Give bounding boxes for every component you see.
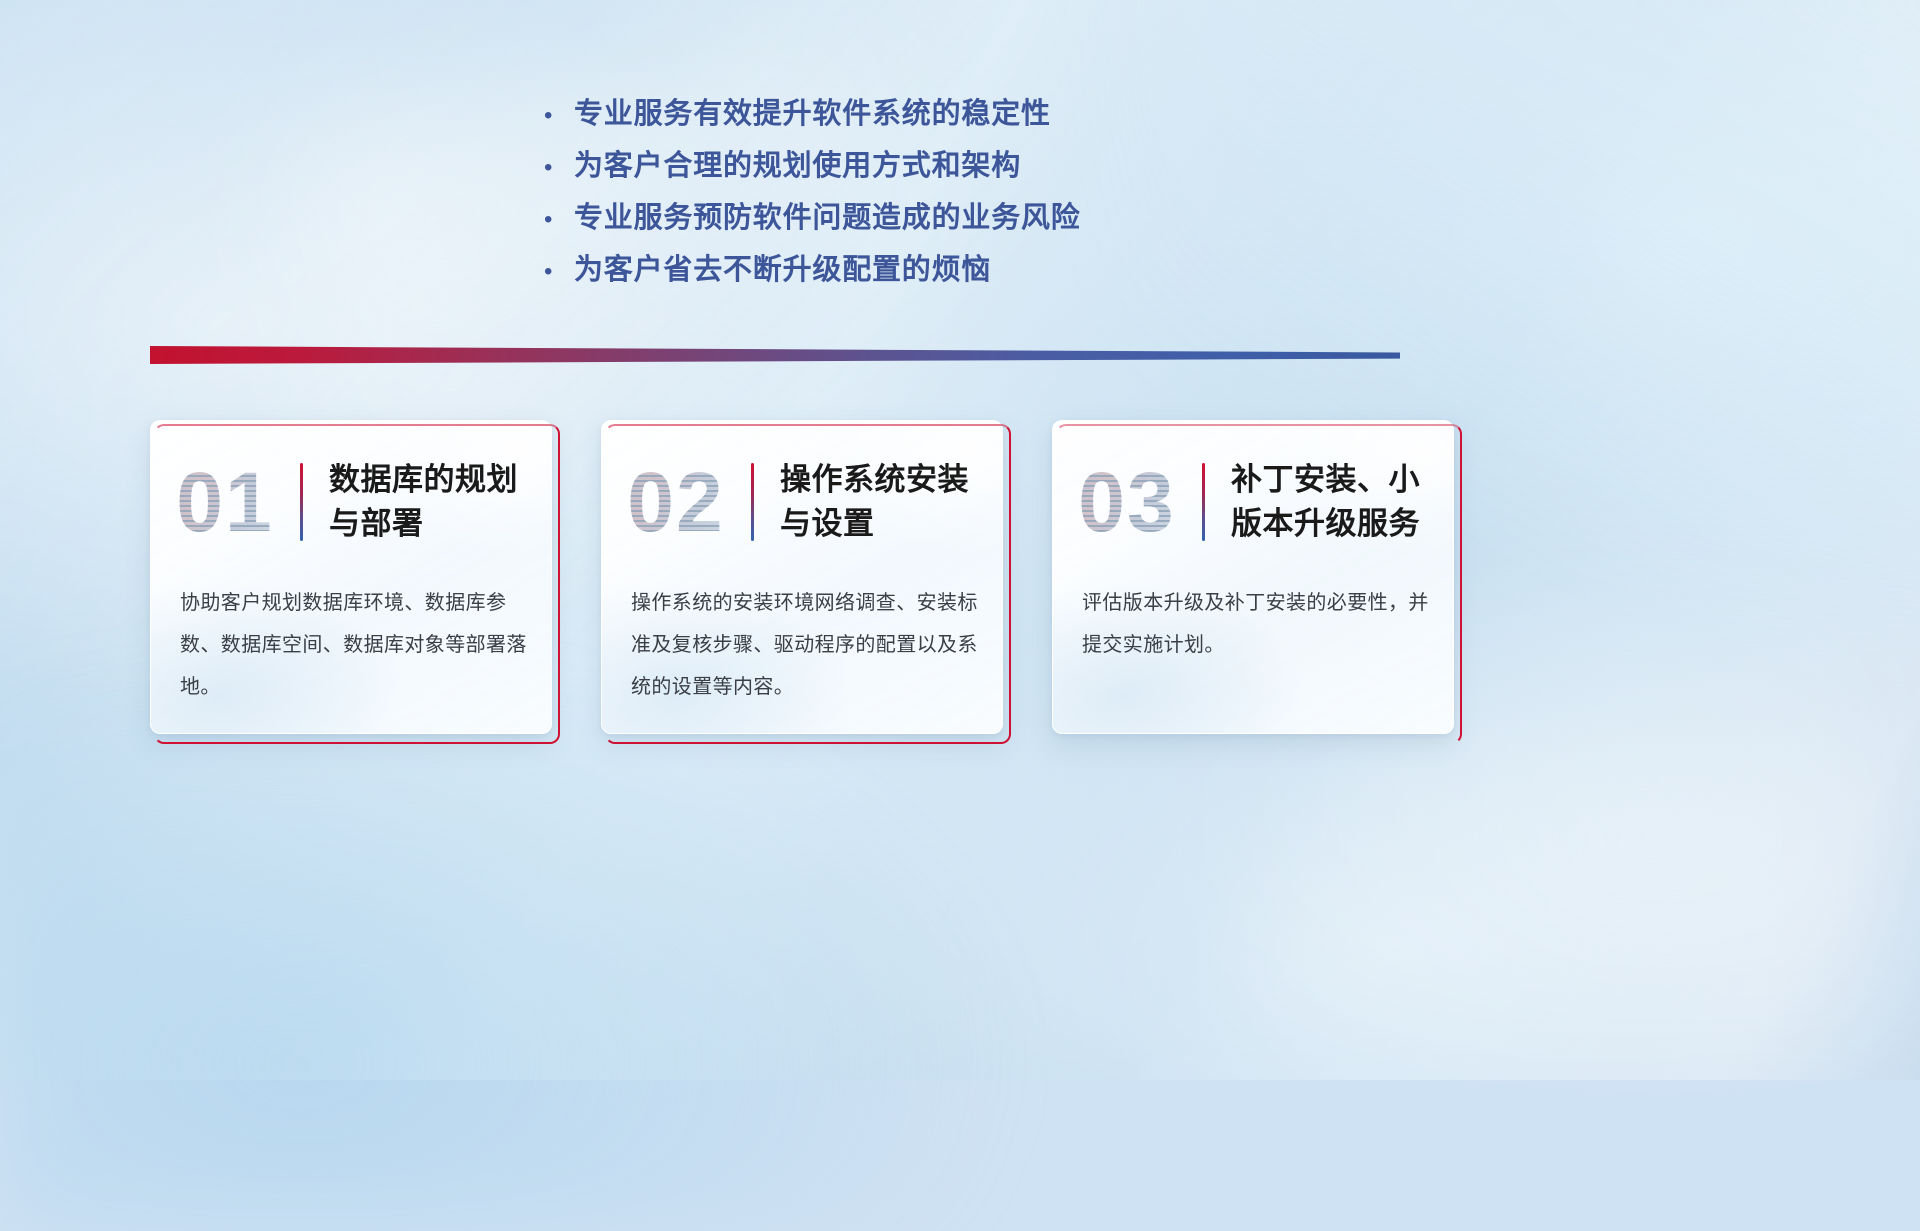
card-number: 01 (150, 442, 300, 562)
bullet-item: • 为客户省去不断升级配置的烦恼 (540, 244, 1320, 296)
bullet-dot-icon: • (540, 246, 574, 298)
bullet-dot-icon: • (540, 142, 574, 194)
bullet-text: 为客户省去不断升级配置的烦恼 (574, 244, 991, 296)
card-title: 补丁安装、小版本升级服务 (1231, 458, 1452, 546)
card-number: 02 (601, 442, 751, 562)
card-body-text: 协助客户规划数据库环境、数据库参数、数据库空间、数据库对象等部署落地。 (180, 582, 528, 708)
card-header: 02 操作系统安装与设置 (601, 442, 1001, 562)
section-divider (150, 346, 1400, 364)
card-body-text: 评估版本升级及补丁安装的必要性，并提交实施计划。 (1082, 582, 1430, 666)
divider-bar (150, 346, 1400, 364)
bullet-text: 专业服务预防软件问题造成的业务风险 (574, 192, 1081, 244)
card-divider-line (1202, 463, 1205, 541)
bullet-item: • 专业服务有效提升软件系统的稳定性 (540, 88, 1320, 140)
bullet-item: • 专业服务预防软件问题造成的业务风险 (540, 192, 1320, 244)
bullet-dot-icon: • (540, 194, 574, 246)
card-title: 操作系统安装与设置 (780, 458, 1001, 546)
card-title: 数据库的规划与部署 (329, 458, 550, 546)
card-header: 01 数据库的规划与部署 (150, 442, 550, 562)
card-body-text: 操作系统的安装环境网络调查、安装标准及复核步骤、驱动程序的配置以及系统的设置等内… (631, 582, 979, 708)
bullet-dot-icon: • (540, 90, 574, 142)
service-card[interactable]: 02 操作系统安装与设置 操作系统的安装环境网络调查、安装标准及复核步骤、驱动程… (601, 420, 1007, 740)
bullet-text: 专业服务有效提升软件系统的稳定性 (574, 88, 1051, 140)
service-card-group: 01 数据库的规划与部署 协助客户规划数据库环境、数据库参数、数据库空间、数据库… (150, 420, 1460, 745)
benefits-bullet-list: • 专业服务有效提升软件系统的稳定性 • 为客户合理的规划使用方式和架构 • 专… (540, 88, 1320, 296)
card-divider-line (751, 463, 754, 541)
bullet-item: • 为客户合理的规划使用方式和架构 (540, 140, 1320, 192)
card-number: 03 (1052, 442, 1202, 562)
bullet-text: 为客户合理的规划使用方式和架构 (574, 140, 1021, 192)
service-card[interactable]: 03 补丁安装、小版本升级服务 评估版本升级及补丁安装的必要性，并提交实施计划。 (1052, 420, 1458, 740)
card-divider-line (300, 463, 303, 541)
card-header: 03 补丁安装、小版本升级服务 (1052, 442, 1452, 562)
service-card[interactable]: 01 数据库的规划与部署 协助客户规划数据库环境、数据库参数、数据库空间、数据库… (150, 420, 556, 740)
